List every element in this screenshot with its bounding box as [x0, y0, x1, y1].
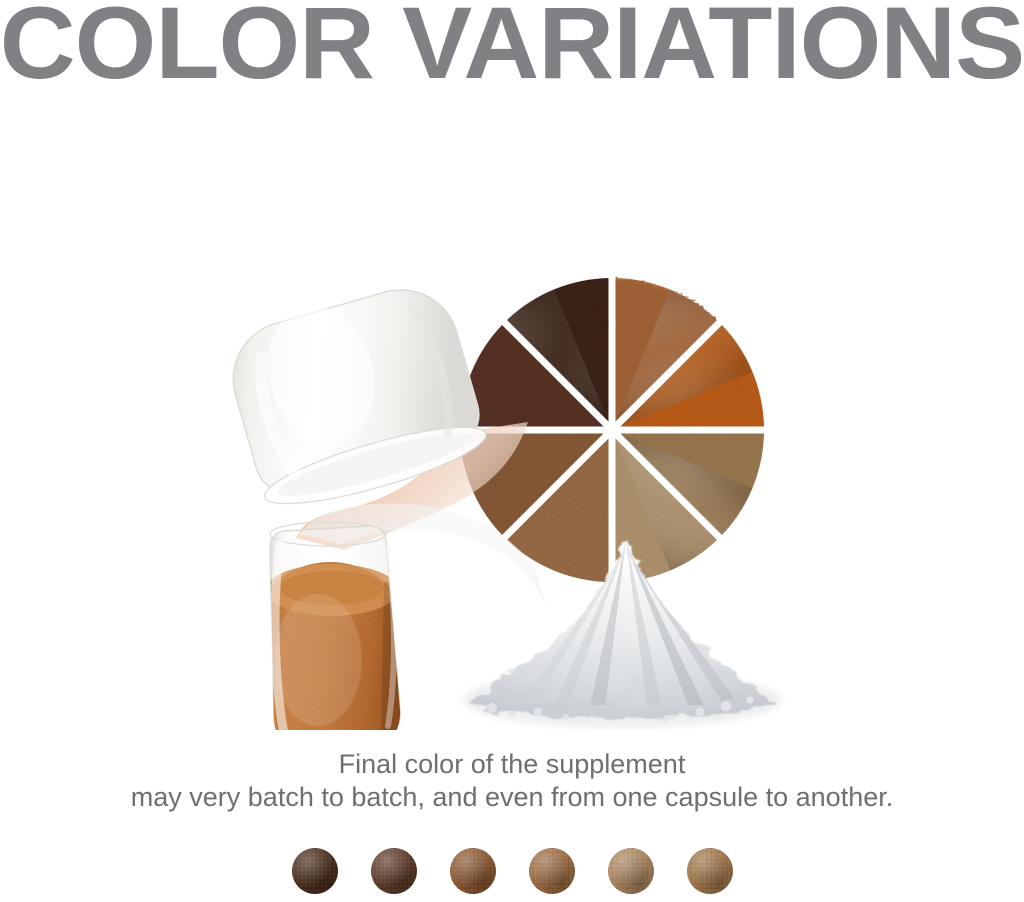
illustration-svg	[0, 120, 1024, 730]
color-swatch-4	[529, 848, 575, 894]
color-swatch-6	[687, 848, 733, 894]
color-swatch-2	[371, 848, 417, 894]
color-swatch-1	[292, 848, 338, 894]
product-illustration	[0, 120, 1024, 730]
color-swatch-row	[0, 845, 1024, 897]
caption-line-1: Final color of the supplement	[0, 748, 1024, 781]
caption-block: Final color of the supplement may very b…	[0, 748, 1024, 814]
capsule-body	[262, 522, 404, 730]
page-title: COLOR VARIATIONS	[0, 0, 1024, 94]
white-powder-pile	[462, 538, 782, 728]
color-swatch-3	[450, 848, 496, 894]
caption-line-2: may very batch to batch, and even from o…	[0, 781, 1024, 814]
color-swatch-5	[608, 848, 654, 894]
